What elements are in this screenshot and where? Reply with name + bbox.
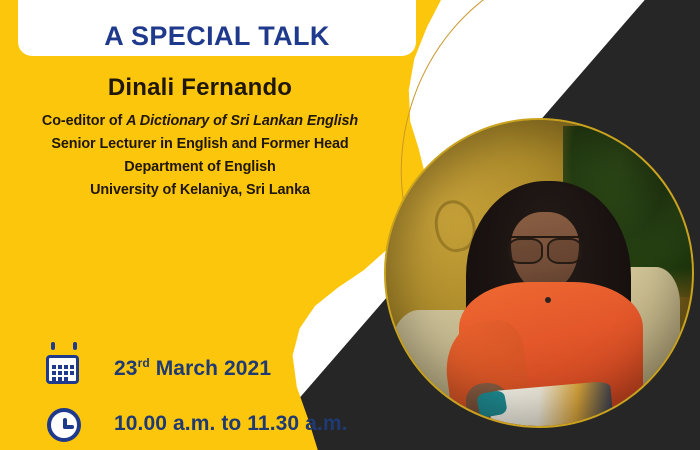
clock-hour-hand	[63, 425, 74, 429]
event-date-text: 23rd March 2021	[114, 356, 271, 381]
calendar-hanger-right	[73, 342, 77, 350]
calendar-grid	[52, 365, 73, 381]
event-time-row: 10.00 a.m. to 11.30 a.m.	[44, 396, 348, 450]
page-title: A SPECIAL TALK	[104, 21, 330, 52]
speaker-credential: Co-editor of A Dictionary of Sri Lankan …	[0, 110, 400, 133]
event-date-ordinal: rd	[138, 356, 150, 370]
speaker-department: Department of English	[0, 156, 400, 179]
speaker-photo	[386, 120, 692, 426]
speaker-info: Dinali Fernando Co-editor of A Dictionar…	[0, 74, 400, 202]
clock-icon	[44, 404, 84, 444]
event-time-text: 10.00 a.m. to 11.30 a.m.	[114, 412, 348, 436]
speaker-affiliation: University of Kelaniya, Sri Lanka	[0, 179, 400, 202]
event-date-day: 23	[114, 357, 138, 380]
event-date-rest: March 2021	[150, 357, 271, 380]
calendar-icon	[44, 348, 84, 388]
speaker-photo-frame	[384, 118, 694, 428]
calendar-body	[46, 355, 79, 384]
event-poster: A SPECIAL TALK Dinali Fernando Co-editor…	[0, 0, 700, 450]
calendar-hanger-left	[51, 342, 55, 350]
event-date-row: 23rd March 2021	[44, 340, 348, 396]
event-details: 23rd March 2021 10.00 a.m. to 11.30 a.m.	[44, 340, 348, 450]
clock-face	[47, 408, 81, 442]
credential-book-title: A Dictionary of Sri Lankan English	[126, 113, 358, 129]
speaker-name: Dinali Fernando	[0, 74, 400, 102]
speaker-role: Senior Lecturer in English and Former He…	[0, 133, 400, 156]
credential-prefix: Co-editor of	[42, 113, 126, 129]
photo-vignette	[386, 120, 692, 426]
title-banner: A SPECIAL TALK	[18, 0, 416, 56]
